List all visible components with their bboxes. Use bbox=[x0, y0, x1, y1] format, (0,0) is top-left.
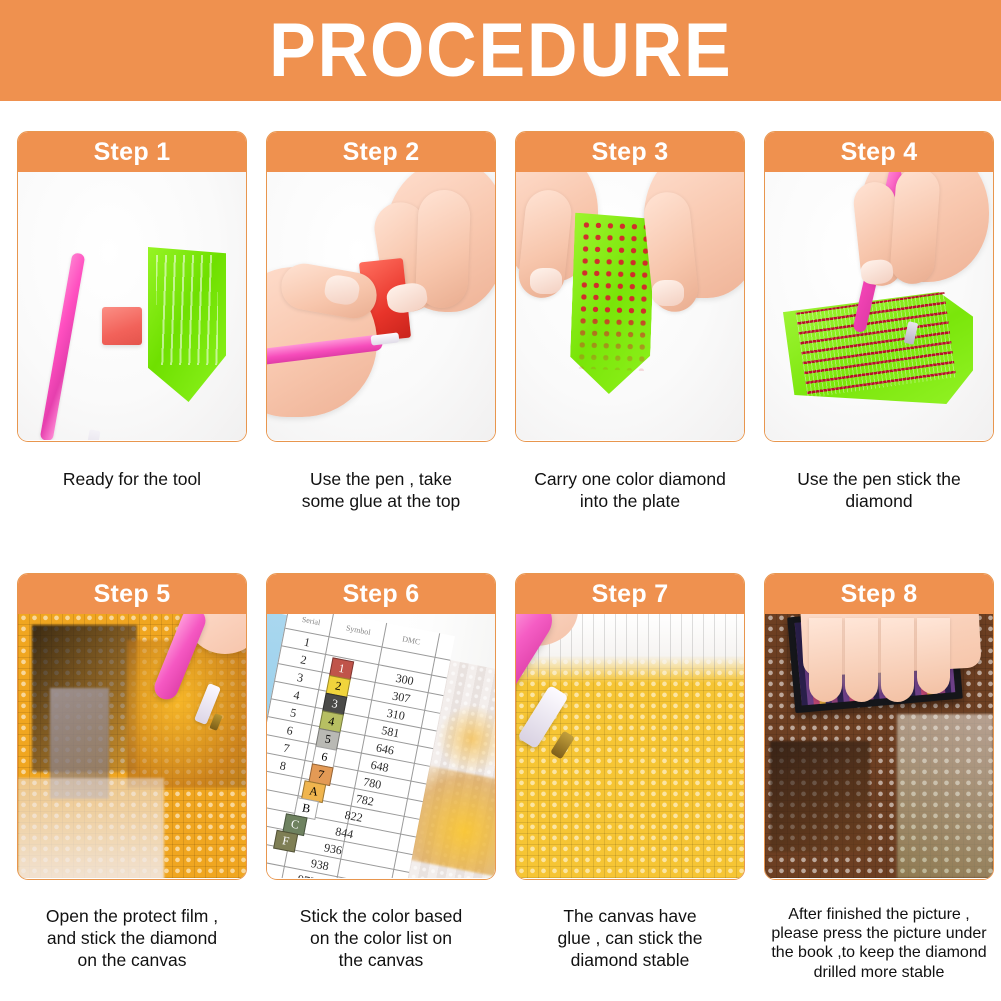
step-7-header: Step 7 bbox=[516, 574, 744, 614]
step-5-caption: Open the protect film ,and stick the dia… bbox=[17, 905, 247, 982]
pen-picking-diamond-photo bbox=[765, 172, 993, 440]
step-6-header: Step 6 bbox=[267, 574, 495, 614]
step-2-header: Step 2 bbox=[267, 132, 495, 172]
chart-col-dmc: DMC bbox=[389, 632, 434, 649]
step-3-caption: Carry one color diamondinto the plate bbox=[515, 468, 745, 512]
canvas-glue-closeup-photo bbox=[516, 614, 744, 878]
chart-col-serial: Serial bbox=[291, 614, 332, 629]
pen-taking-glue-photo bbox=[267, 172, 495, 440]
captions-row-2: Open the protect film ,and stick the dia… bbox=[17, 905, 984, 982]
step-6-caption: Stick the color basedon the color list o… bbox=[266, 905, 496, 982]
step-card-2: Step 2 bbox=[266, 131, 496, 442]
step-card-8: Step 8 bbox=[764, 573, 994, 880]
page-title: PROCEDURE bbox=[269, 13, 732, 89]
wax-square-icon bbox=[102, 307, 142, 345]
chart-col-symbol: Symbol bbox=[336, 622, 381, 639]
step-4-header: Step 4 bbox=[765, 132, 993, 172]
captions-row-1: Ready for the tool Use the pen , takesom… bbox=[17, 468, 984, 512]
procedure-infographic: PROCEDURE Step 1 bbox=[0, 0, 1001, 1001]
steps-row-1: Step 1 Step 2 bbox=[17, 131, 984, 442]
step-card-3: Step 3 bbox=[515, 131, 745, 442]
step-1-caption: Ready for the tool bbox=[17, 468, 247, 512]
step-3-header: Step 3 bbox=[516, 132, 744, 172]
diamond-painting-tools-photo bbox=[18, 172, 246, 440]
step-5-header: Step 5 bbox=[18, 574, 246, 614]
step-card-7: Step 7 bbox=[515, 573, 745, 880]
step-4-caption: Use the pen stick thediamond bbox=[764, 468, 994, 512]
step-card-1: Step 1 bbox=[17, 131, 247, 442]
step-7-caption: The canvas haveglue , can stick thediamo… bbox=[515, 905, 745, 982]
sticking-diamond-on-canvas-photo bbox=[18, 614, 246, 878]
steps-row-2: Step 5 bbox=[17, 573, 984, 880]
pressing-picture-under-book-photo bbox=[765, 614, 993, 878]
red-diamonds-icon bbox=[575, 219, 650, 371]
step-card-6: Step 6 bbox=[266, 573, 496, 880]
step-2-caption: Use the pen , takesome glue at the top bbox=[266, 468, 496, 512]
page-banner: PROCEDURE bbox=[0, 0, 1001, 101]
chart-symbol: F bbox=[273, 830, 298, 853]
step-card-5: Step 5 bbox=[17, 573, 247, 880]
color-code-chart-photo: Serial Symbol DMC 1 2 3 4 5 6 7 8 1 bbox=[267, 614, 495, 878]
step-8-header: Step 8 bbox=[765, 574, 993, 614]
pouring-diamonds-into-tray-photo bbox=[516, 172, 744, 440]
step-8-caption: After finished the picture ,please press… bbox=[764, 905, 994, 982]
step-card-4: Step 4 bbox=[764, 131, 994, 442]
step-1-header: Step 1 bbox=[18, 132, 246, 172]
